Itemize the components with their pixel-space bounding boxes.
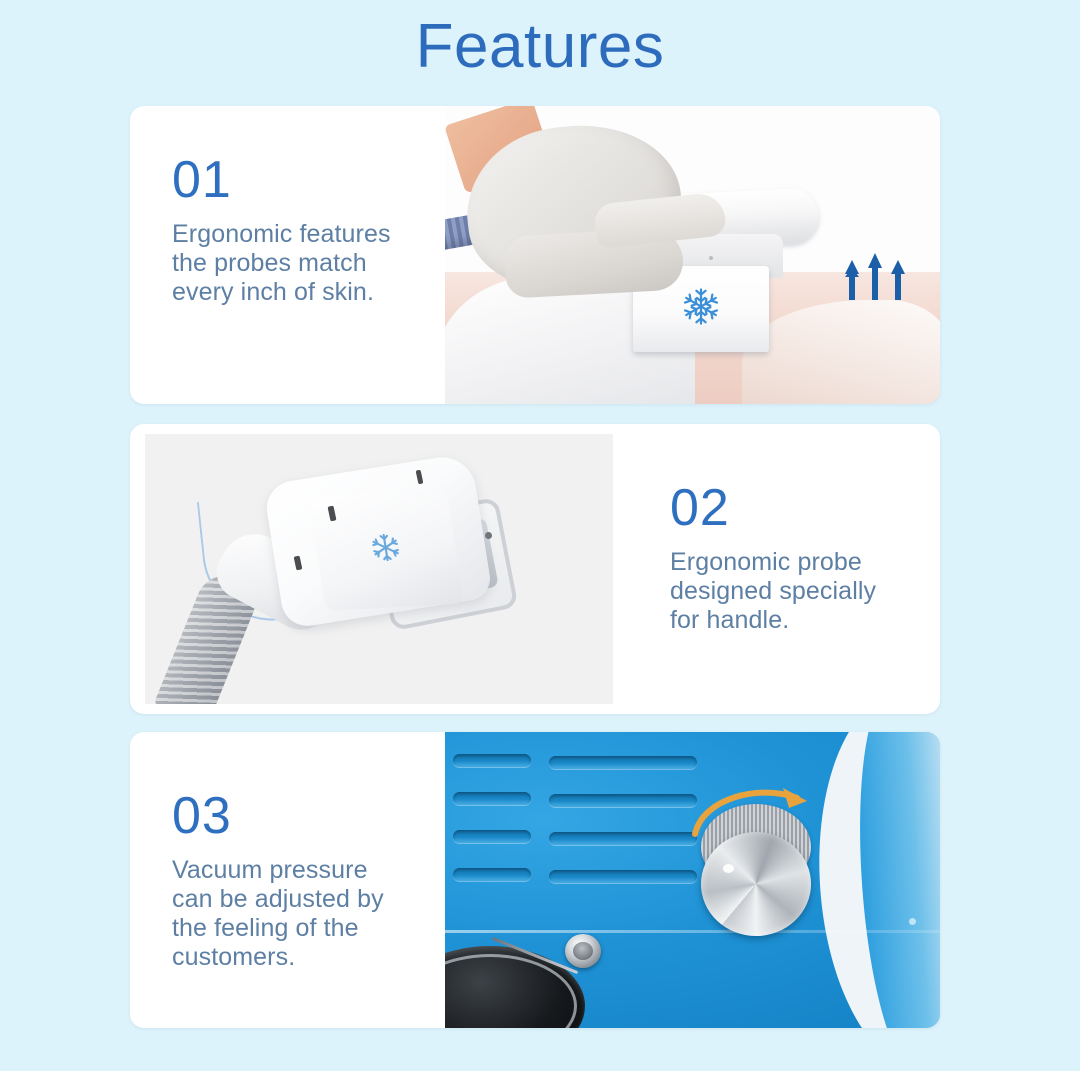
- feature-card-02-text: 02 Ergonomic probe designed specially fo…: [670, 482, 930, 635]
- knob-highlight: [723, 864, 734, 873]
- feature-card-01-text: 01 Ergonomic features the probes match e…: [172, 154, 452, 307]
- ventilation-grille: [453, 754, 717, 906]
- probe-screw: [485, 532, 492, 539]
- feature-description-02: Ergonomic probe designed specially for h…: [670, 548, 930, 635]
- vacuum-pressure-knob[interactable]: [697, 804, 815, 922]
- feature-description-01: Ergonomic features the probes match ever…: [172, 220, 452, 307]
- suction-arrows-icon: [844, 248, 906, 305]
- feature-card-03: 03 Vacuum pressure can be adjusted by th…: [130, 732, 940, 1028]
- feature-number-02: 02: [670, 482, 930, 534]
- page-title: Features: [0, 16, 1080, 78]
- panel-screw: [909, 918, 916, 925]
- feature-image-01: [445, 106, 940, 404]
- feature-card-02: 02 Ergonomic probe designed specially fo…: [130, 424, 940, 714]
- probe-indicator-dot: [709, 256, 713, 260]
- feature-card-01: 01 Ergonomic features the probes match e…: [130, 106, 940, 404]
- feature-card-03-text: 03 Vacuum pressure can be adjusted by th…: [172, 790, 452, 972]
- snowflake-icon: [366, 530, 406, 570]
- snowflake-icon: [680, 286, 722, 333]
- feature-number-01: 01: [172, 154, 452, 206]
- feature-image-03: [445, 732, 940, 1028]
- feature-number-03: 03: [172, 790, 452, 842]
- feature-description-03: Vacuum pressure can be adjusted by the f…: [172, 856, 452, 972]
- connector-port-inner: [573, 942, 593, 960]
- feature-image-02: [145, 434, 613, 704]
- features-page: Features 01 Ergonomic features the probe…: [0, 0, 1080, 1071]
- knob-top-face: [701, 832, 811, 936]
- panel-seam: [445, 930, 940, 933]
